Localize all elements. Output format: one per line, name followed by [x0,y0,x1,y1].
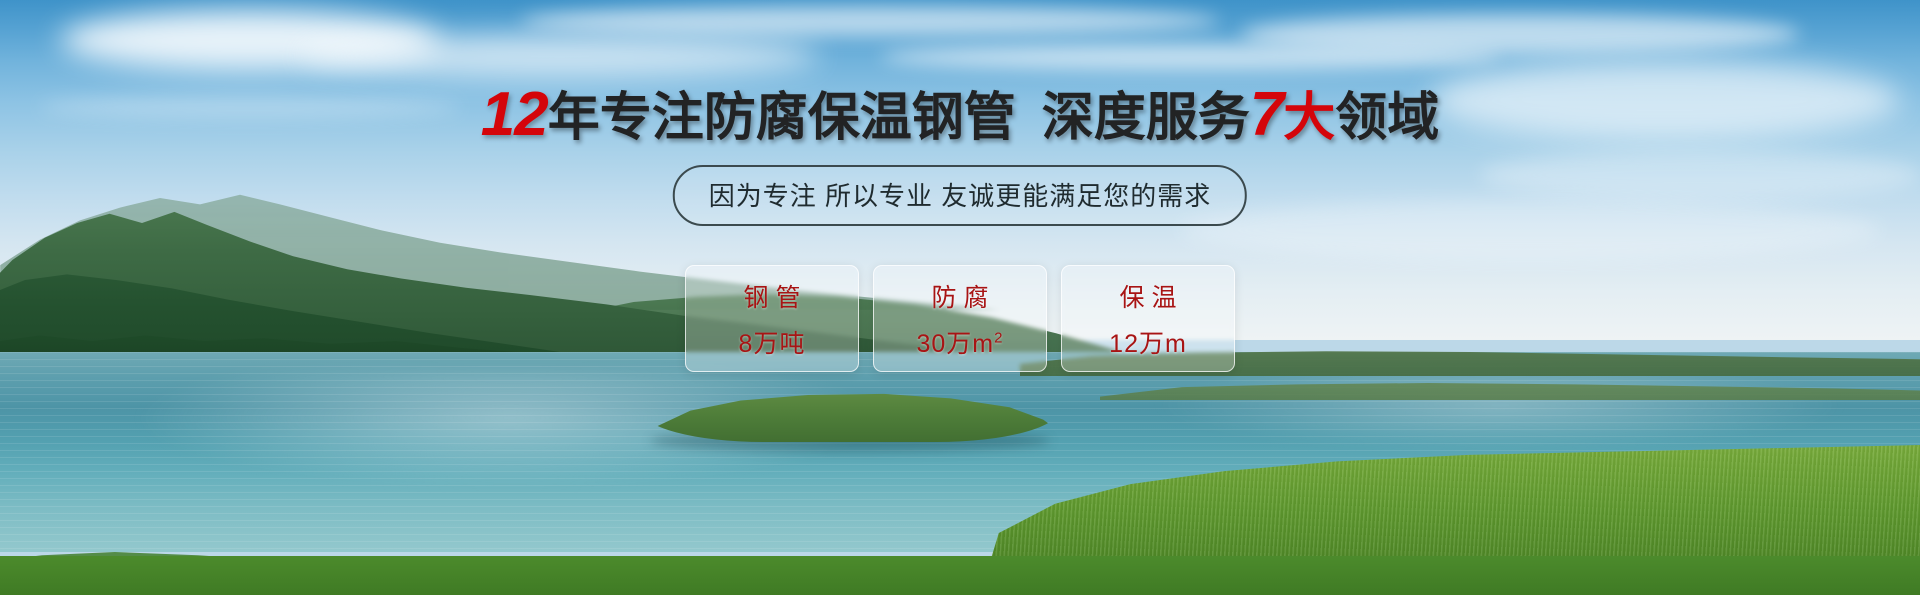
stat-card-group: 钢管 8万吨 防腐 30万m2 保温 12万m [685,265,1235,372]
hero-banner: 12年专注防腐保温钢管深度服务7大领域 因为专注 所以专业 友诚更能满足您的需求… [0,0,1920,595]
cloud-wisp [1180,200,1880,260]
stat-card-label: 防腐 [924,278,995,314]
subtitle-pill: 因为专注 所以专业 友诚更能满足您的需求 [673,165,1247,226]
stat-card-value: 8万吨 [739,324,806,360]
page-title: 12年专注防腐保温钢管深度服务7大领域 [0,84,1920,146]
bottom-grass-strip [0,556,1920,595]
stat-card-label: 钢管 [736,278,807,314]
stat-card-steel-pipe[interactable]: 钢管 8万吨 [685,265,859,372]
fields-number: 7 [1250,80,1283,149]
stat-value-text: 12万m [1109,330,1187,358]
years-number: 12 [481,80,548,149]
stat-value-text: 30万m [917,330,995,358]
stat-card-label: 保温 [1112,278,1183,314]
headline-big-char: 大 [1283,89,1335,147]
cloud-wisp [1480,150,1920,200]
stat-card-value: 30万m2 [917,324,1004,360]
stat-card-value: 12万m [1109,324,1187,360]
headline-part-two: 深度服务 [1042,89,1250,147]
stat-value-sup: 2 [994,329,1003,346]
cloud-wisp [520,6,1220,36]
headline-part-three: 领域 [1335,89,1439,147]
stat-card-insulation[interactable]: 保温 12万m [1061,265,1235,372]
headline-part-one: 年专注防腐保温钢管 [548,89,1016,147]
stat-card-anticorrosion[interactable]: 防腐 30万m2 [873,265,1047,372]
cloud-shape [300,34,820,78]
stat-value-text: 8万吨 [739,330,806,358]
cloud-wisp [1240,14,1800,54]
